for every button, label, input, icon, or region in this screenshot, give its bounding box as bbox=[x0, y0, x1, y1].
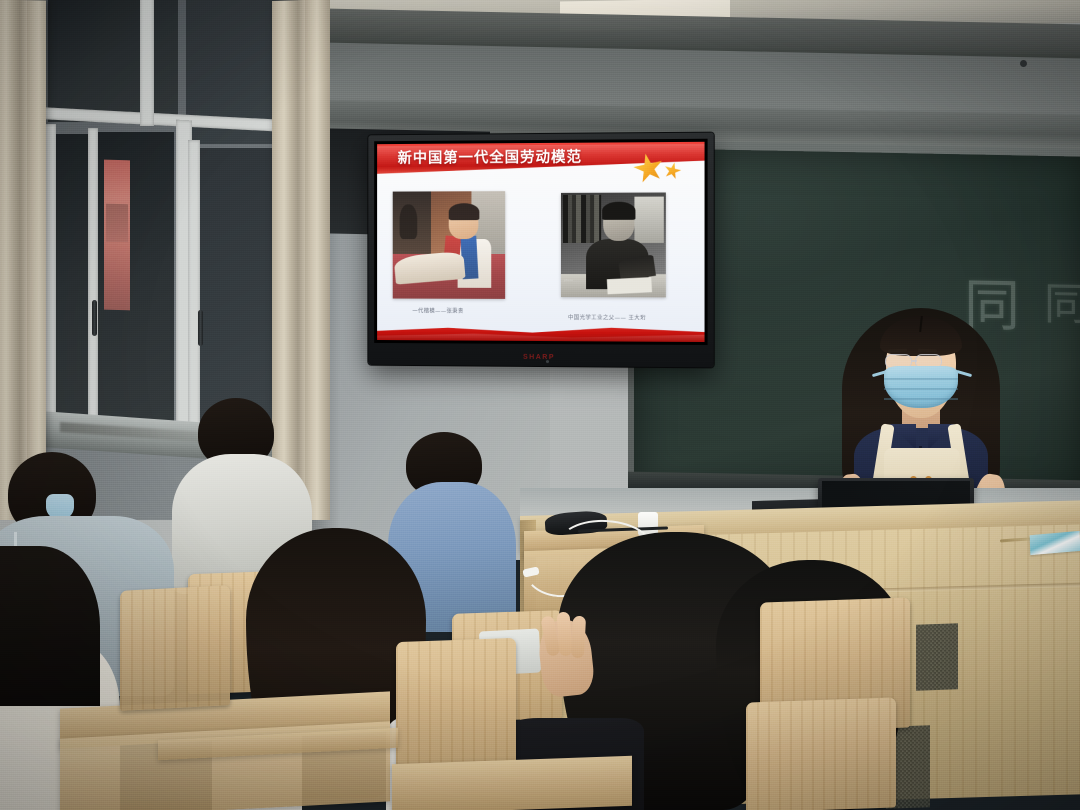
slide-caption-left: 一代楷模——张秉贵 bbox=[412, 308, 463, 316]
window-jamb-right bbox=[188, 140, 200, 440]
glasses-icon-bridge bbox=[912, 360, 917, 362]
ceiling-fixture-dot bbox=[1020, 60, 1027, 67]
window-sash-divider bbox=[88, 128, 98, 434]
wall-mounted-tv[interactable]: SHARP 新中国第一代全国劳动模范 bbox=[368, 133, 713, 368]
tv-brand-logo: SHARP bbox=[523, 354, 555, 361]
classroom-photo: 同 同 SHARP 新中国第一代全国劳动模范 bbox=[0, 0, 1080, 810]
desk-surface-mid-foreground bbox=[392, 756, 632, 810]
presentation-slide: 新中国第一代全国劳动模范 bbox=[377, 142, 704, 342]
window-pane-lower-left bbox=[54, 134, 92, 434]
slide-photo-left bbox=[393, 191, 505, 299]
curtain-left[interactable] bbox=[0, 0, 46, 520]
student-finger-3 bbox=[571, 616, 586, 659]
slide-caption-right: 中国光学工业之父—— 王大珩 bbox=[568, 315, 646, 323]
window-mullion-vertical-top bbox=[140, 0, 154, 126]
red-poster-icon bbox=[104, 160, 130, 311]
slide-title-text: 新中国第一代全国劳动模范 bbox=[398, 146, 582, 168]
chair-back-left-foreground[interactable] bbox=[120, 585, 230, 711]
window-pane-upper-left bbox=[48, 0, 178, 122]
tv-power-led bbox=[546, 360, 549, 363]
podium-speaker-grille-upper bbox=[916, 623, 958, 690]
chalk-writing-secondary: 同 bbox=[1044, 268, 1080, 333]
slide-photo-right: photo bbox=[561, 193, 666, 298]
chair-back-mid-foreground[interactable] bbox=[396, 638, 516, 772]
chair-back-right-lower[interactable] bbox=[746, 697, 896, 810]
window-handle-right[interactable] bbox=[198, 310, 203, 346]
window-handle-left[interactable] bbox=[92, 300, 97, 336]
